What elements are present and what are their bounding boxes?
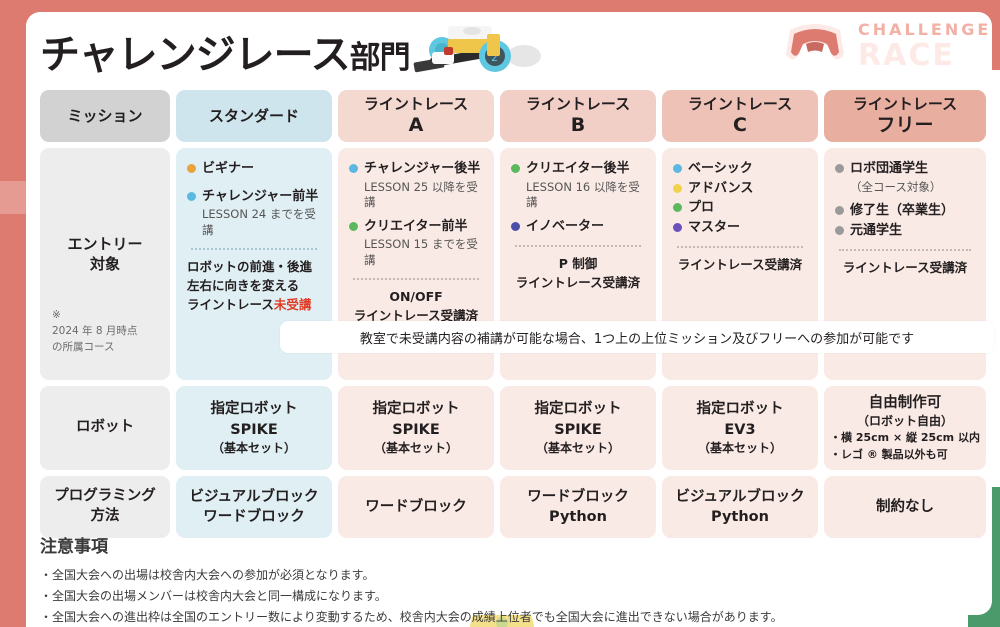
column-header-line-a: ライントレース A xyxy=(338,90,494,142)
supplementary-note-banner: 教室で未受講内容の補講が可能な場合、1つ上の上位ミッション及びフリーへの参加が可… xyxy=(280,321,994,353)
list-item: 元通学生 xyxy=(835,222,975,240)
mission-table: ミッション スタンダード ライントレース A ライントレース B xyxy=(40,90,980,544)
content-card: チャレンジレース部門 2 xyxy=(26,12,992,615)
row-label-entry: エントリー 対象 ※ 2024 年 8 月時点 の所属コース xyxy=(40,148,170,380)
entry-b-item-0-label: クリエイター後半 xyxy=(526,160,629,178)
programming-b-l2: Python xyxy=(549,509,607,525)
bullet-dot-icon xyxy=(349,222,358,231)
column-header-line-c-grade: C xyxy=(688,114,792,138)
bullet-dot-icon xyxy=(187,164,196,173)
table-header-row: ミッション スタンダード ライントレース A ライントレース B xyxy=(40,90,980,142)
divider xyxy=(677,246,803,248)
entry-free-requirement: ライントレース受講済 xyxy=(835,259,975,278)
entry-c-item-3-label: マスター xyxy=(688,219,740,237)
entry-c-item-2-label: プロ xyxy=(688,199,714,217)
column-header-standard: スタンダード xyxy=(176,90,332,142)
bullet-dot-icon xyxy=(187,192,196,201)
robot-free-l2: （ロボット自由） xyxy=(830,413,980,430)
robot-cell-standard: 指定ロボット SPIKE （基本セット） xyxy=(176,386,332,470)
list-item: ビギナー xyxy=(187,160,321,178)
entry-standard-item-0-label: ビギナー xyxy=(202,160,254,178)
entry-free-item-1-label: 修了生（卒業生） xyxy=(850,202,954,220)
robot-free-text: 自由制作可 （ロボット自由） ・横 25cm × 縦 25cm 以内 ・レゴ ®… xyxy=(824,393,986,463)
divider xyxy=(191,248,317,250)
entry-b-item-0-sub: LESSON 16 以降を受講 xyxy=(526,180,645,211)
table-row-robot: ロボット 指定ロボット SPIKE （基本セット） 指定ロボット SPIKE （… xyxy=(40,386,980,470)
programming-a-text: ワードブロック xyxy=(365,497,467,517)
entry-footnote-line2: の所属コース xyxy=(52,341,114,353)
column-header-line-b: ライントレース B xyxy=(500,90,656,142)
entry-standard-requirement: ロボットの前進・後進 左右に向きを変える ライントレース未受講 xyxy=(187,258,321,314)
entry-a-item-1-label: クリエイター前半 xyxy=(364,218,467,236)
programming-c-text: ビジュアルブロック Python xyxy=(675,487,804,528)
programming-cell-standard: ビジュアルブロック ワードブロック xyxy=(176,476,332,538)
column-header-line-free-grade: フリー xyxy=(853,114,957,138)
robot-cell-line-c: 指定ロボット EV3 （基本セット） xyxy=(662,386,818,470)
bullet-dot-icon xyxy=(835,164,844,173)
entry-free-item-2-label: 元通学生 xyxy=(850,222,902,240)
column-header-line-free-label: ライントレース xyxy=(853,95,957,113)
robot-c-text: 指定ロボット EV3 （基本セット） xyxy=(697,399,784,456)
robot-b-l1: 指定ロボット xyxy=(535,401,622,417)
robot-standard-l3: （基本セット） xyxy=(211,440,298,457)
notes-title: 注意事項 xyxy=(40,532,970,557)
bullet-dot-icon xyxy=(349,164,358,173)
programming-cell-line-c: ビジュアルブロック Python xyxy=(662,476,818,538)
list-item: ロボ団通学生 xyxy=(835,160,975,178)
divider xyxy=(515,245,641,247)
programming-c-l2: Python xyxy=(711,509,769,525)
row-label-entry-line1: エントリー xyxy=(67,235,142,253)
entry-footnote-line1: 2024 年 8 月時点 xyxy=(52,325,137,337)
row-label-entry-line2: 対象 xyxy=(90,255,120,273)
note-line: ・全国大会への出場は校舎内大会への参加が必須となります。 xyxy=(40,565,970,586)
robot-cell-line-b: 指定ロボット SPIKE （基本セット） xyxy=(500,386,656,470)
list-item: クリエイター後半 xyxy=(511,160,645,178)
supplementary-note-text: 教室で未受講内容の補講が可能な場合、1つ上の上位ミッション及びフリーへの参加が可… xyxy=(360,328,914,347)
row-label-programming: プログラミング 方法 xyxy=(40,476,170,538)
logo-line-challenge: CHALLENGE xyxy=(858,22,991,38)
column-header-mission: ミッション xyxy=(40,90,170,142)
robot-c-l3: （基本セット） xyxy=(697,440,784,457)
bullet-dot-icon xyxy=(835,226,844,235)
programming-standard-l1: ビジュアルブロック xyxy=(189,489,318,505)
table-row-programming: プログラミング 方法 ビジュアルブロック ワードブロック ワードブロック xyxy=(40,476,980,538)
robot-free-l4: ・レゴ ® 製品以外も可 xyxy=(830,447,980,464)
row-label-entry-text: エントリー 対象 xyxy=(40,234,170,275)
row-label-robot-text: ロボット xyxy=(76,418,134,438)
robot-standard-l2: SPIKE xyxy=(230,422,278,438)
entry-standard-req-line1: ロボットの前進・後進 xyxy=(187,259,312,274)
list-item: アドバンス xyxy=(673,180,807,198)
programming-c-l1: ビジュアルブロック xyxy=(675,489,804,505)
spacer xyxy=(187,180,321,188)
robot-b-text: 指定ロボット SPIKE （基本セット） xyxy=(535,399,622,456)
list-item: 修了生（卒業生） xyxy=(835,202,975,220)
bullet-dot-icon xyxy=(511,164,520,173)
robot-c-l2: EV3 xyxy=(724,422,755,438)
column-header-line-c: ライントレース C xyxy=(662,90,818,142)
entry-free-req-line1: ライントレース受講済 xyxy=(843,260,967,275)
entry-a-item-0-sub: LESSON 25 以降を受講 xyxy=(364,180,483,211)
page-header: チャレンジレース部門 2 xyxy=(26,12,992,84)
page-title-main: チャレンジレース xyxy=(40,32,350,78)
notes-section: 注意事項 ・全国大会への出場は校舎内大会への参加が必須となります。 ・全国大会の… xyxy=(40,532,970,627)
entry-footnote-mark: ※ xyxy=(52,309,61,321)
column-header-line-b-grade: B xyxy=(526,114,630,138)
row-label-programming-l1: プログラミング xyxy=(54,488,156,504)
entry-b-requirement: P 制御 ライントレース受講済 xyxy=(511,255,645,293)
background-left-band xyxy=(0,0,26,627)
row-label-programming-text: プログラミング 方法 xyxy=(54,487,156,526)
row-label-robot: ロボット xyxy=(40,386,170,470)
logo-text: CHALLENGE RACE xyxy=(858,22,991,71)
divider xyxy=(353,278,479,280)
entry-standard-req-line3: ライントレース xyxy=(187,297,274,312)
robot-a-l3: （基本セット） xyxy=(373,440,460,457)
entry-a-req-line1: ON/OFF xyxy=(389,289,442,304)
robot-standard-l1: 指定ロボット xyxy=(211,401,298,417)
robot-illustration-icon: 2 xyxy=(412,16,542,82)
logo-line-race: RACE xyxy=(858,41,991,71)
programming-b-text: ワードブロック Python xyxy=(527,487,629,528)
robot-a-l2: SPIKE xyxy=(392,422,440,438)
entry-standard-req-highlight: 未受講 xyxy=(274,297,312,312)
robot-cell-line-a: 指定ロボット SPIKE （基本セット） xyxy=(338,386,494,470)
entry-standard-item-1-label: チャレンジャー前半 xyxy=(202,188,318,206)
programming-standard-l2: ワードブロック xyxy=(203,509,305,525)
robot-free-l3: ・横 25cm × 縦 25cm 以内 xyxy=(830,430,980,447)
page-root: チャレンジレース部門 2 xyxy=(0,0,1000,627)
entry-c-item-0-label: ベーシック xyxy=(688,160,753,178)
programming-b-l1: ワードブロック xyxy=(527,489,629,505)
column-header-standard-label: スタンダード xyxy=(209,107,299,126)
programming-cell-line-b: ワードブロック Python xyxy=(500,476,656,538)
bullet-dot-icon xyxy=(673,164,682,173)
page-title-sub: 部門 xyxy=(350,40,410,76)
entry-c-item-1-label: アドバンス xyxy=(688,180,753,198)
robot-c-l1: 指定ロボット xyxy=(697,401,784,417)
row-label-programming-l2: 方法 xyxy=(91,508,120,524)
column-header-line-a-grade: A xyxy=(364,114,468,138)
entry-standard-item-1-sub: LESSON 24 までを受講 xyxy=(202,207,321,238)
column-header-line-a-label: ライントレース xyxy=(364,95,468,113)
list-item: チャレンジャー後半 xyxy=(349,160,483,178)
column-header-line-c-label: ライントレース xyxy=(688,95,792,113)
note-line: ・全国大会の出場メンバーは校舎内大会と同一構成になります。 xyxy=(40,586,970,607)
list-item: イノベーター xyxy=(511,218,645,236)
entry-footnote: ※ 2024 年 8 月時点 の所属コース xyxy=(52,308,137,355)
column-header-line-b-label: ライントレース xyxy=(526,95,630,113)
bullet-dot-icon xyxy=(673,184,682,193)
column-header-line-free: ライントレース フリー xyxy=(824,90,986,142)
entry-b-req-line2: ライントレース受講済 xyxy=(516,275,640,290)
robot-a-text: 指定ロボット SPIKE （基本セット） xyxy=(373,399,460,456)
programming-free-l1: 制約なし xyxy=(876,499,934,515)
entry-a-item-0-label: チャレンジャー後半 xyxy=(364,160,480,178)
programming-a-l1: ワードブロック xyxy=(365,499,467,515)
entry-b-item-1-label: イノベーター xyxy=(526,218,604,236)
bullet-dot-icon xyxy=(673,223,682,232)
robot-b-l2: SPIKE xyxy=(554,422,602,438)
divider xyxy=(839,249,971,251)
programming-cell-line-free: 制約なし xyxy=(824,476,986,538)
programming-standard-text: ビジュアルブロック ワードブロック xyxy=(189,487,318,528)
challenge-race-logo: CHALLENGE RACE xyxy=(778,16,988,76)
column-header-mission-label: ミッション xyxy=(67,107,142,126)
bullet-dot-icon xyxy=(511,222,520,231)
robot-standard-text: 指定ロボット SPIKE （基本セット） xyxy=(211,399,298,456)
programming-cell-line-a: ワードブロック xyxy=(338,476,494,538)
entry-b-req-line1: P 制御 xyxy=(559,256,598,271)
entry-c-req-line1: ライントレース受講済 xyxy=(678,257,802,272)
list-item: クリエイター前半 xyxy=(349,218,483,236)
bullet-dot-icon xyxy=(673,203,682,212)
robot-b-l3: （基本セット） xyxy=(535,440,622,457)
list-item: ベーシック xyxy=(673,160,807,178)
list-item: プロ xyxy=(673,199,807,217)
programming-free-text: 制約なし xyxy=(876,497,934,517)
robot-a-l1: 指定ロボット xyxy=(373,401,460,417)
list-item: チャレンジャー前半 xyxy=(187,188,321,206)
entry-free-item-0-sub: （全コース対象） xyxy=(850,180,975,196)
entry-free-item-0-label: ロボ団通学生 xyxy=(850,160,928,178)
robot-cell-line-free: 自由制作可 （ロボット自由） ・横 25cm × 縦 25cm 以内 ・レゴ ®… xyxy=(824,386,986,470)
note-line: ・全国大会への進出枠は全国のエントリー数により変動するため、校舎内大会の成績上位… xyxy=(40,607,970,627)
entry-c-requirement: ライントレース受講済 xyxy=(673,256,807,275)
logo-mark-icon xyxy=(778,20,852,70)
list-item: マスター xyxy=(673,219,807,237)
entry-a-item-1-sub: LESSON 15 までを受講 xyxy=(364,237,483,268)
page-title: チャレンジレース部門 xyxy=(40,22,410,80)
robot-free-l1: 自由制作可 xyxy=(869,395,942,411)
bullet-dot-icon xyxy=(835,206,844,215)
entry-standard-req-line2: 左右に向きを変える xyxy=(187,278,299,293)
